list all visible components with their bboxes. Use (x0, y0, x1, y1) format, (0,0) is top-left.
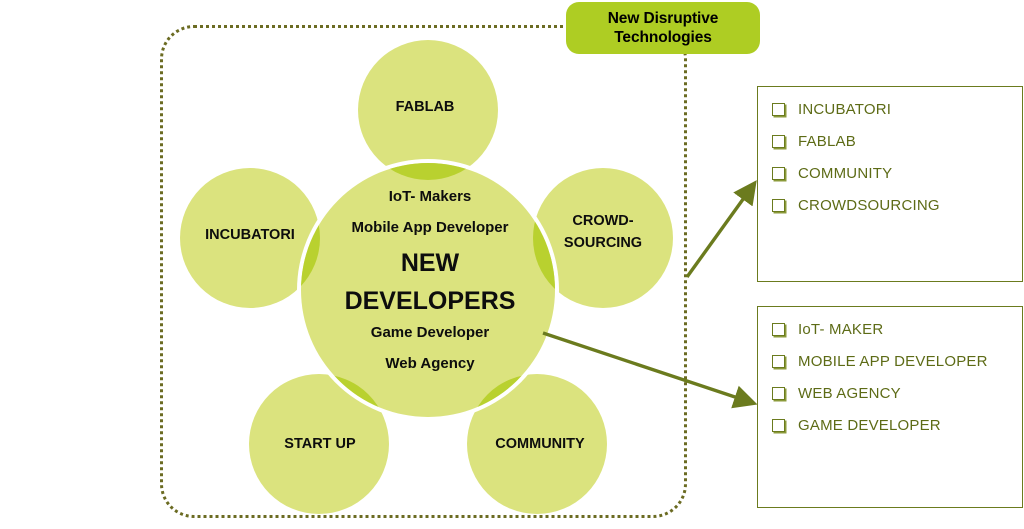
list-item-label: FABLAB (798, 133, 856, 150)
list-item-label: INCUBATORI (798, 101, 891, 118)
list-item-label: MOBILE APP DEVELOPER (798, 353, 988, 370)
list-item-label: IoT- MAKER (798, 321, 883, 338)
list-item[interactable]: IoT- MAKER (758, 321, 1022, 338)
checkbox-icon[interactable] (772, 167, 785, 180)
list-item-label: WEB AGENCY (798, 385, 901, 402)
checkbox-icon[interactable] (772, 135, 785, 148)
list-item[interactable]: MOBILE APP DEVELOPER (758, 353, 1022, 370)
list-item[interactable]: INCUBATORI (758, 101, 1022, 118)
checkbox-icon[interactable] (772, 323, 785, 336)
list-item[interactable]: FABLAB (758, 133, 1022, 150)
checkbox-icon[interactable] (772, 355, 785, 368)
list-item-label: COMMUNITY (798, 165, 892, 182)
list-item-label: GAME DEVELOPER (798, 417, 941, 434)
list-item[interactable]: COMMUNITY (758, 165, 1022, 182)
checkbox-icon[interactable] (772, 419, 785, 432)
ecosystem-actors-items: INCUBATORI FABLAB COMMUNITY CROWDSOURCIN… (758, 87, 1022, 214)
diagram-canvas: INCUBATORI FABLAB CROWD- SOURCING START … (0, 0, 1024, 529)
ecosystem-actors-list: INCUBATORI FABLAB COMMUNITY CROWDSOURCIN… (757, 86, 1023, 282)
list-item[interactable]: WEB AGENCY (758, 385, 1022, 402)
page-title: New Disruptive Technologies (566, 2, 760, 54)
new-developer-roles-items: IoT- MAKER MOBILE APP DEVELOPER WEB AGEN… (758, 307, 1022, 434)
list-item[interactable]: GAME DEVELOPER (758, 417, 1022, 434)
checkbox-icon[interactable] (772, 387, 785, 400)
new-developer-roles-list: IoT- MAKER MOBILE APP DEVELOPER WEB AGEN… (757, 306, 1023, 508)
checkbox-icon[interactable] (772, 199, 785, 212)
checkbox-icon[interactable] (772, 103, 785, 116)
list-item[interactable]: CROWDSOURCING (758, 197, 1022, 214)
list-item-label: CROWDSOURCING (798, 197, 940, 214)
